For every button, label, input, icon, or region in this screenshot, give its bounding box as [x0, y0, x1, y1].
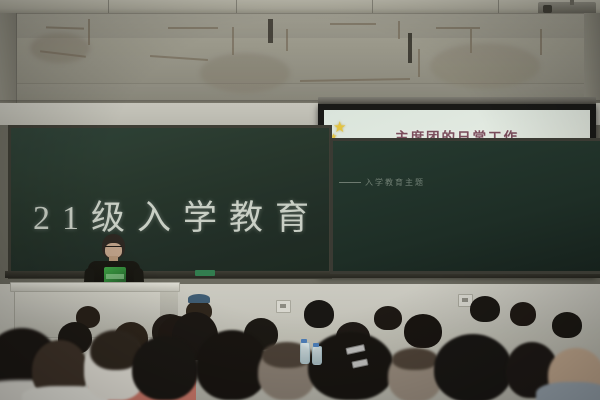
ceiling-seam: [372, 0, 373, 14]
audience-head: [308, 332, 394, 400]
wall-stain: [430, 43, 540, 89]
photo-scene: ★ ★ 主席团的日常工作 ◆ 确定学生会的工作目标与任务。 ◆ 定期检查各部门工…: [0, 0, 600, 400]
wall-beam: [0, 13, 600, 38]
ceiling-seam: [236, 0, 237, 14]
blackboard-eraser: [195, 270, 215, 276]
wall-crack: [418, 49, 420, 77]
ceiling-seam: [498, 0, 499, 14]
wall-crack: [88, 19, 90, 45]
wall-crack: [232, 27, 234, 55]
audience-head: [132, 336, 198, 400]
shirt-graphic-highlight: [106, 274, 124, 279]
audience-rows: [0, 296, 600, 400]
chalk-dash: [339, 182, 361, 183]
projector-lens-icon: [543, 5, 552, 13]
audience-head: [510, 302, 536, 326]
wall-crack: [540, 29, 542, 55]
wall-pipe: [268, 19, 273, 43]
water-bottle: [300, 342, 310, 364]
upper-wall: [0, 13, 600, 105]
bottle-cap: [301, 339, 307, 343]
audience-head: [196, 330, 268, 400]
wall-pipe: [408, 33, 412, 63]
audience-hair: [392, 348, 438, 370]
blackboard-right: 入学教育主题: [330, 138, 600, 274]
wall-pillar: [584, 13, 600, 105]
audience-shoulders: [536, 382, 600, 400]
wall-crack: [286, 29, 288, 51]
wall-crack: [168, 27, 218, 29]
wall-stain: [200, 53, 290, 93]
audience-head: [434, 334, 512, 400]
blackboard-secondary-text: 入学教育主题: [365, 177, 425, 188]
ceiling: [0, 0, 600, 14]
audience-head: [374, 306, 402, 330]
audience-head: [552, 312, 582, 338]
blackboard-main-text: 21级入学教育: [33, 190, 321, 239]
glasses-icon: [105, 246, 122, 251]
podium-top-surface: [10, 282, 180, 292]
water-bottle: [312, 346, 322, 365]
wall-crack: [300, 78, 410, 82]
audience-head: [404, 314, 442, 348]
wall-crack: [436, 27, 480, 29]
blackboard-main: 21级入学教育: [8, 125, 332, 279]
wall-crack: [150, 55, 208, 61]
projector-mount: [570, 0, 574, 5]
audience-head: [470, 296, 500, 322]
wall-crack: [330, 23, 376, 25]
wall-stain: [30, 33, 90, 63]
ceiling-seam: [108, 0, 109, 14]
wall-pillar: [0, 13, 17, 105]
audience-head: [304, 300, 334, 328]
audience-cap: [188, 294, 210, 303]
wall-crack: [398, 21, 400, 39]
bottle-cap: [313, 343, 319, 347]
blackboard-area: 21级入学教育: [0, 125, 330, 285]
